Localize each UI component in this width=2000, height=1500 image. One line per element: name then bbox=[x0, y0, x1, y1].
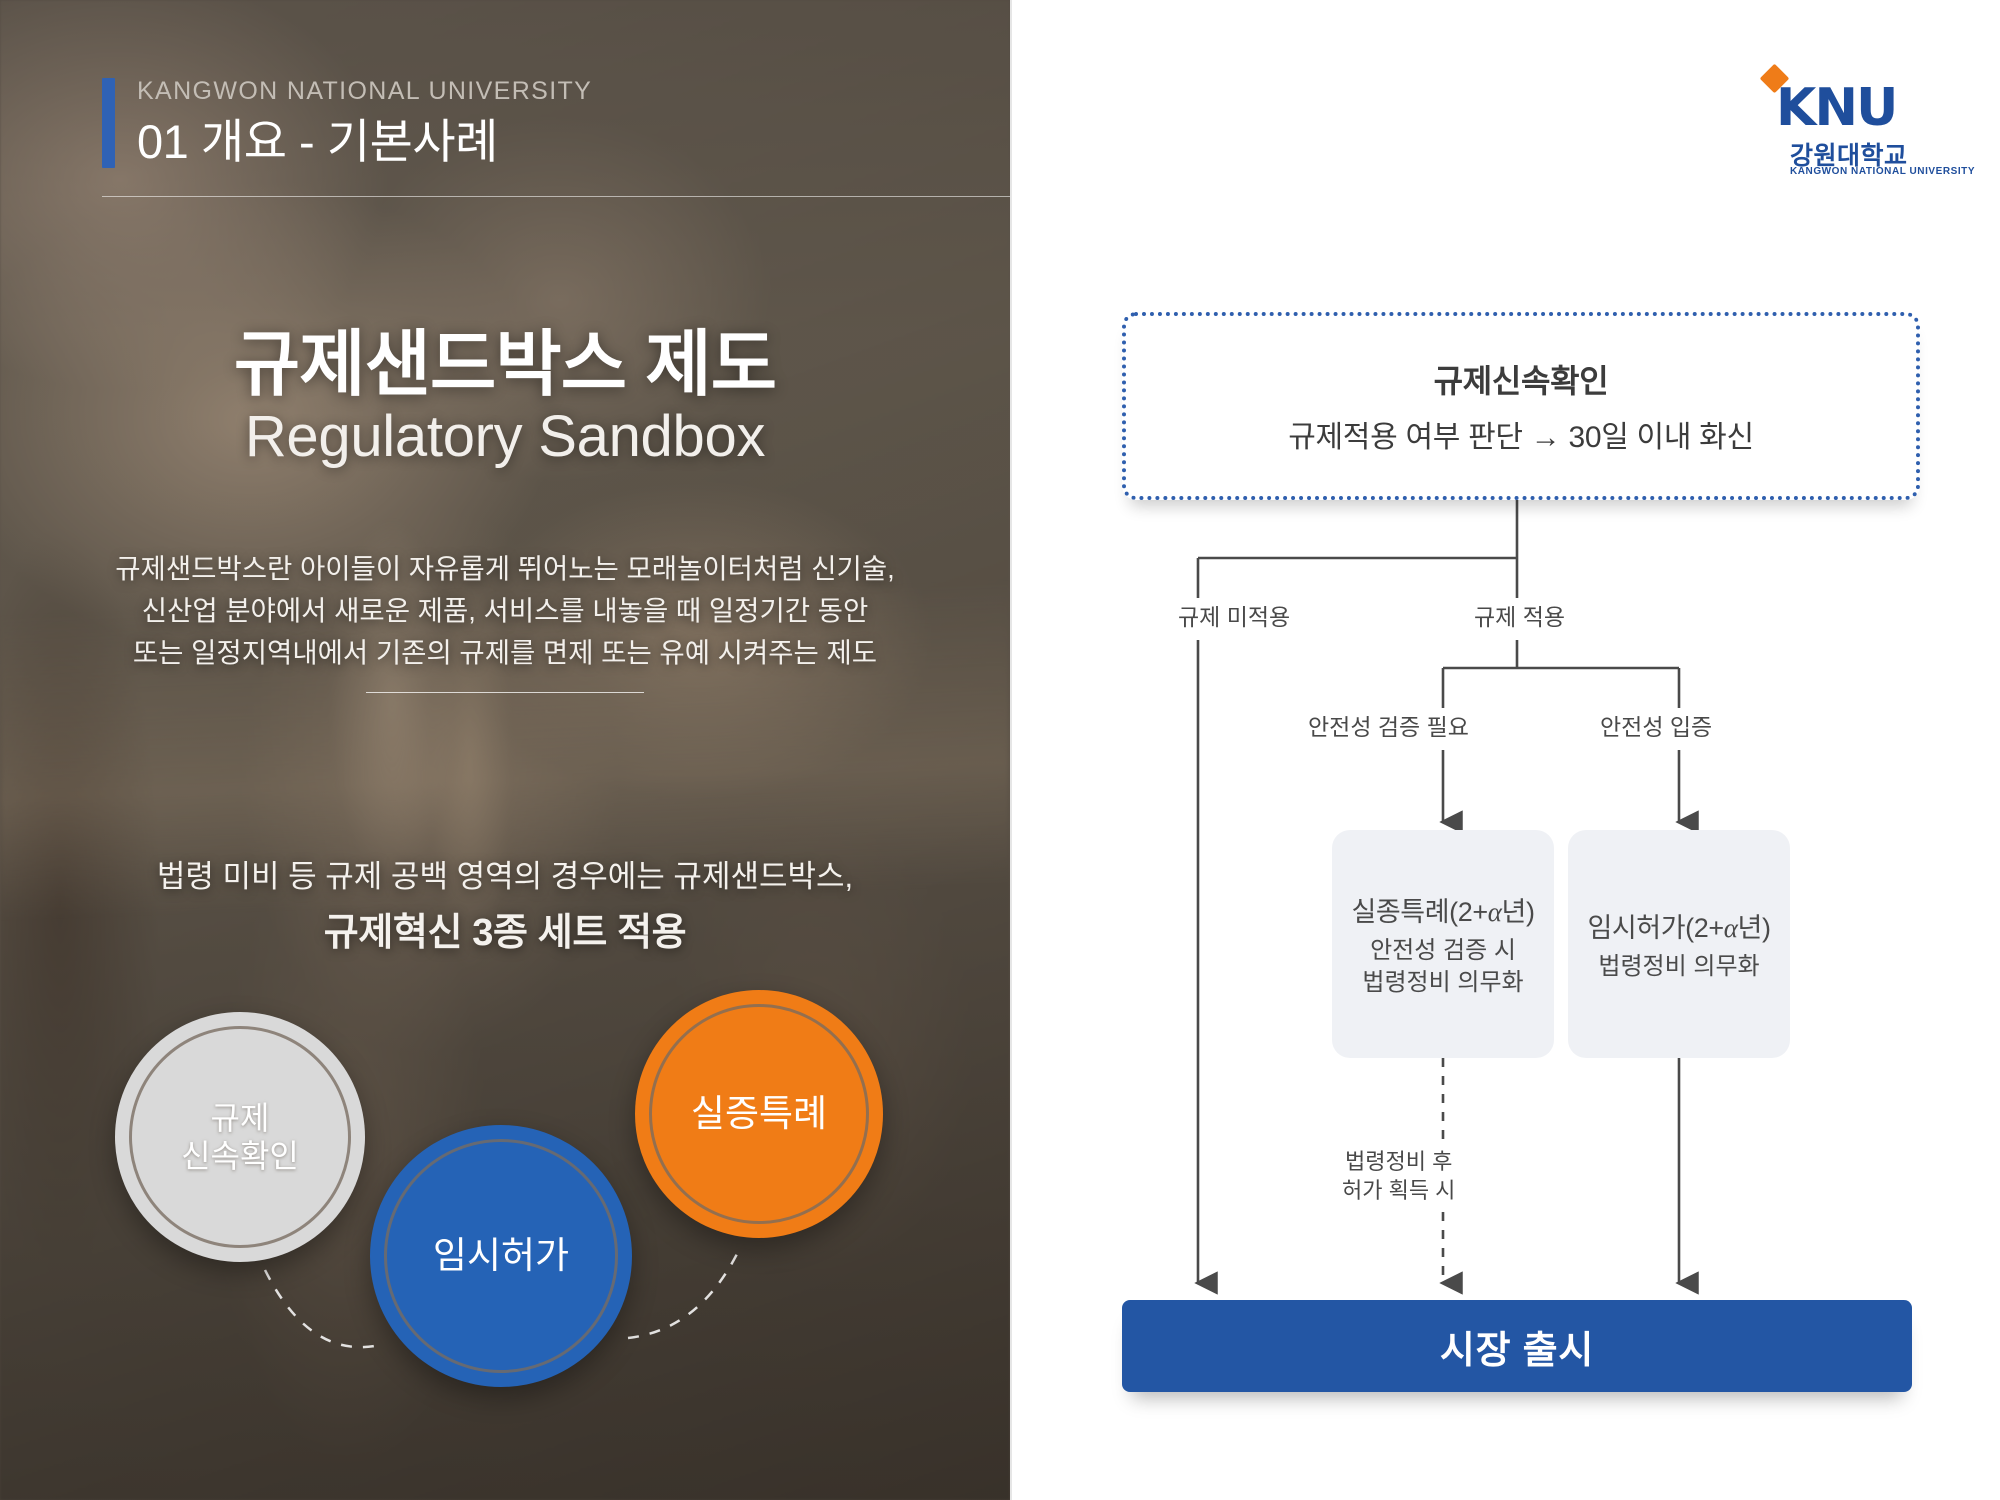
circle-demonstration-exception[interactable]: 실증특례 bbox=[635, 990, 883, 1238]
quick-check-title: 규제신속확인 bbox=[1434, 356, 1609, 402]
flowchart-connectors bbox=[1012, 0, 2000, 1500]
edge-label-safety-proven: 안전성 입증 bbox=[1600, 708, 1712, 742]
quick-check-box[interactable]: 규제신속확인 규제적용 여부 판단 → 30일 이내 화신 bbox=[1122, 312, 1920, 500]
card-temporary-permit[interactable]: 임시허가(2+α년) 법령정비 의무화 bbox=[1568, 830, 1790, 1058]
after-legislation-line-2: 허가 획득 시 bbox=[1342, 1176, 1455, 1205]
card-body: 안전성 검증 시법령정비 의무화 bbox=[1362, 935, 1523, 998]
market-launch-label: 시장 출시 bbox=[1440, 1319, 1594, 1374]
edge-label-applied: 규제 적용 bbox=[1474, 598, 1565, 632]
circle-regulation-quick-check[interactable]: 규제신속확인 bbox=[115, 1012, 365, 1262]
circle-label-quick-check: 규제신속확인 bbox=[181, 1099, 299, 1176]
circle-label-temporary-permit: 임시허가 bbox=[433, 1234, 569, 1278]
card-title: 임시허가(2+α년) bbox=[1587, 906, 1770, 945]
circle-temporary-permit[interactable]: 임시허가 bbox=[370, 1125, 632, 1387]
left-photo-panel: KANGWON NATIONAL UNIVERSITY 01 개요 - 기본사례… bbox=[0, 0, 1010, 1500]
market-launch-bar[interactable]: 시장 출시 bbox=[1122, 1300, 1912, 1392]
quick-check-subtitle: 규제적용 여부 판단 → 30일 이내 화신 bbox=[1288, 412, 1754, 456]
edge-label-not-applied: 규제 미적용 bbox=[1178, 598, 1290, 632]
edge-label-safety-needed: 안전성 검증 필요 bbox=[1308, 708, 1469, 742]
right-diagram-panel: KNU 강원대학교 KANGWON NATIONAL UNIVERSITY bbox=[1012, 0, 2000, 1500]
edge-label-after-legislation: 법령정비 후 허가 획득 시 bbox=[1342, 1147, 1455, 1205]
regulatory-sandbox-flowchart: 규제신속확인 규제적용 여부 판단 → 30일 이내 화신 규제 미적용 규제 … bbox=[1012, 0, 2000, 1500]
card-title: 실종특례(2+α년) bbox=[1351, 890, 1534, 929]
circle-label-demonstration-exception: 실증특례 bbox=[691, 1092, 827, 1136]
card-body: 법령정비 의무화 bbox=[1598, 951, 1759, 983]
three-set-circles: 규제신속확인 임시허가 실증특례 bbox=[0, 0, 1010, 1500]
card-demonstration-exception[interactable]: 실종특례(2+α년) 안전성 검증 시법령정비 의무화 bbox=[1332, 830, 1554, 1058]
slide: KANGWON NATIONAL UNIVERSITY 01 개요 - 기본사례… bbox=[0, 0, 2000, 1500]
after-legislation-line-1: 법령정비 후 bbox=[1342, 1147, 1455, 1176]
